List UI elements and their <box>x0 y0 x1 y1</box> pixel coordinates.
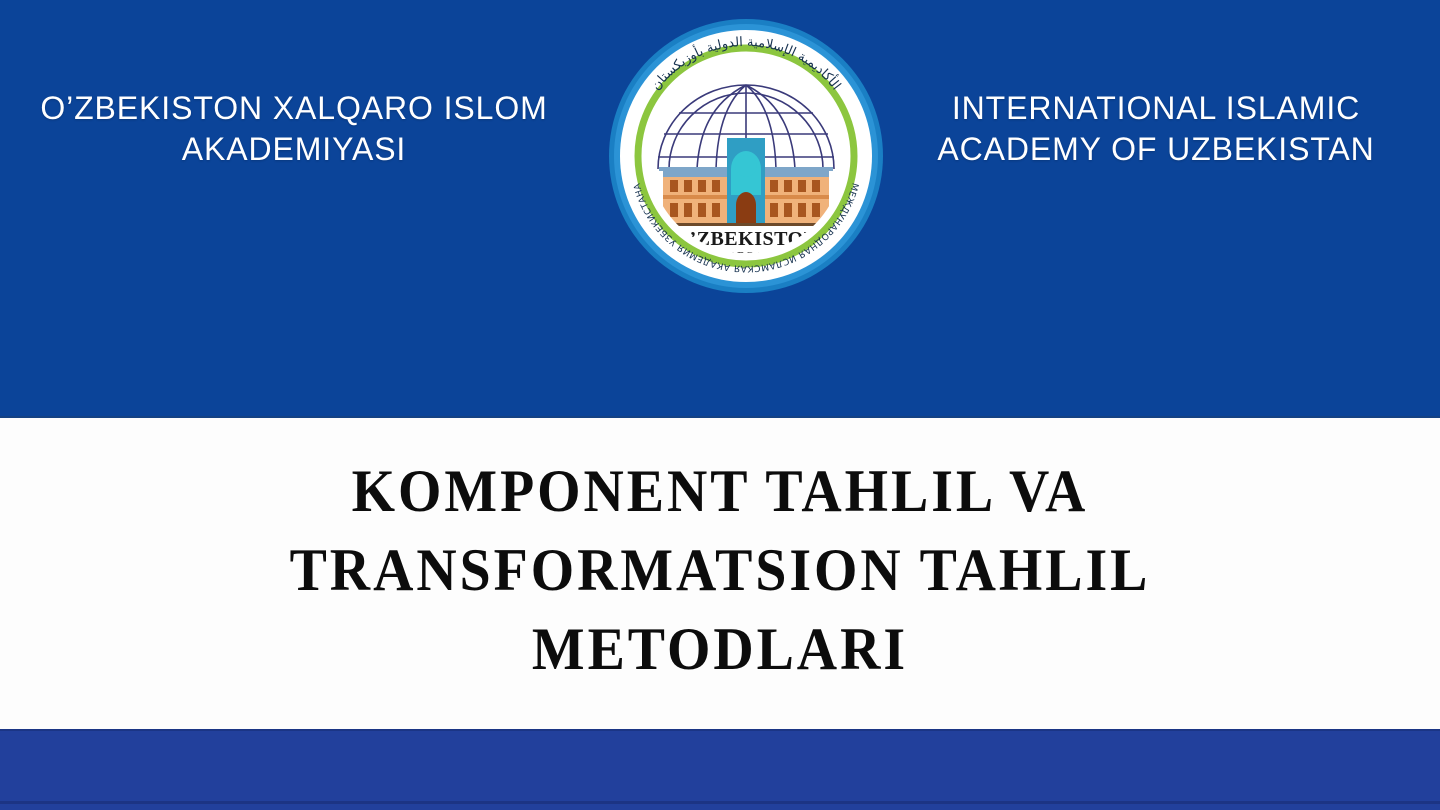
presentation-slide: O’ZBEKISTON XALQARO ISLOM AKADEMIYASI IN… <box>0 0 1440 810</box>
footer-band-bottom-edge <box>0 801 1440 804</box>
footer-band-top-edge <box>0 729 1440 731</box>
header-title-english: INTERNATIONAL ISLAMIC ACADEMY OF UZBEKIS… <box>886 88 1426 170</box>
slide-title: KOMPONENT TAHLIL VA TRANSFORMATSION TAHL… <box>106 452 1334 696</box>
header-title-uzbek: O’ZBEKISTON XALQARO ISLOM AKADEMIYASI <box>14 88 574 170</box>
emblem-building-left-wing <box>663 171 729 223</box>
academy-emblem-icon: الأكاديمية الإسلامية الدولية بأوزبكستان … <box>607 17 885 295</box>
title-area: KOMPONENT TAHLIL VA TRANSFORMATSION TAHL… <box>0 418 1440 729</box>
emblem-building-portal <box>727 138 765 223</box>
emblem-building-right-wing <box>763 171 829 223</box>
footer-band <box>0 729 1440 810</box>
